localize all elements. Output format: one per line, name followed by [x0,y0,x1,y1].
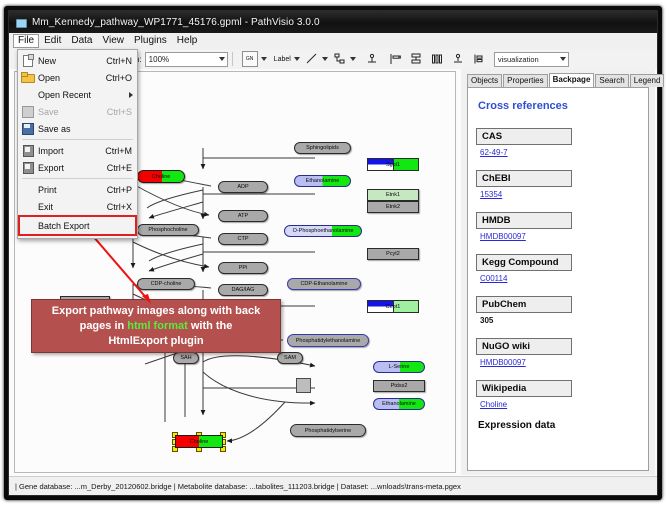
xref-header: Wikipedia [476,380,572,397]
window-frame: Mm_Kennedy_pathway_WP1771_45176.gpml - P… [4,6,662,500]
node-label: Phosphatidylserine [305,428,351,434]
menu-edit[interactable]: Edit [39,34,66,48]
new-document-icon [21,54,34,67]
menu-item-save-as[interactable]: Save as [18,120,137,137]
menu-item-exit[interactable]: Exit Ctrl+X [18,198,137,215]
xref-header: Kegg Compound [476,254,572,271]
annotation-line2-a: pages in [80,320,128,332]
node-cept1[interactable]: Cept1 [367,300,419,313]
xref-pubchem: PubChem 305 [476,294,640,325]
node-atp[interactable]: ATP [218,210,268,222]
node-label: Ethanolamine [306,178,340,184]
node-label: Etnk1 [386,192,400,198]
menu-item-label: Open [38,73,106,83]
visualization-value: visualization [498,55,539,64]
menu-item-accel: Ctrl+P [107,185,134,195]
chevron-down-icon [560,57,566,61]
zoom-value: 100% [149,55,169,64]
node-label: Pcyt2 [386,251,400,257]
anchor-box [296,378,311,393]
line-icon[interactable] [305,52,319,66]
window-inner: Mm_Kennedy_pathway_WP1771_45176.gpml - P… [8,10,658,496]
xref-header: HMDB [476,212,572,229]
chevron-down-icon[interactable] [261,57,267,61]
save-icon [21,105,34,118]
toolbar-separator [232,52,233,66]
backpage-panel: Cross references CAS 62-49-7 ChEBI 15354… [467,87,649,471]
menu-separator [22,178,133,179]
xref-value-link[interactable]: C00114 [480,274,640,283]
menu-item-accel: Ctrl+S [107,107,134,117]
label-button[interactable]: Label [274,56,291,63]
node-o-phosphoethanolamine[interactable]: O-Phosphoethanolamine [284,225,362,237]
annotation-line2-b: with the [188,320,233,332]
node-label: CDP-Ethanolamine [300,281,347,287]
status-bar: | Gene database: ...m_Derby_20120602.bri… [9,476,657,495]
tab-objects[interactable]: Objects [467,74,502,87]
menu-item-print[interactable]: Print Ctrl+P [18,181,137,198]
node-label: Ethanolamine [382,401,416,407]
distribute-icon[interactable] [430,52,444,66]
node-ethanolamine-2[interactable]: Ethanolamine [373,398,425,410]
menu-item-accel: Ctrl+X [107,202,134,212]
menu-bar: File Edit Data View Plugins Help [9,33,657,50]
side-panel-tabs: Objects Properties Backpage Search Legen… [467,73,653,87]
node-choline-top[interactable]: Choline [137,170,185,183]
node-label: Phosphocholine [148,227,187,233]
node-label: Ptdss2 [391,383,408,389]
export-icon [21,161,34,174]
cross-references-title: Cross references [478,100,640,112]
annotation-callout: Export pathway images along with back pa… [31,299,281,353]
align-left-icon[interactable] [388,52,402,66]
no-icon [21,88,34,101]
zoom-select[interactable]: 100% [145,52,228,67]
xref-wikipedia: Wikipedia Choline [476,378,640,409]
node-ethanolamine-1[interactable]: Ethanolamine [294,175,351,187]
side-panel: Objects Properties Backpage Search Legen… [461,69,655,475]
xref-value-link[interactable]: HMDB00097 [480,358,640,367]
node-label: SAM [284,355,296,361]
xref-value-link[interactable]: HMDB00097 [480,232,640,241]
menu-item-accel: Ctrl+M [105,146,134,156]
node-phosphatidylserine[interactable]: Phosphatidylserine [290,424,366,437]
xref-header: PubChem [476,296,572,313]
no-icon [21,219,34,232]
node-cdp-choline[interactable]: CDP-choline [137,278,195,290]
menu-separator [22,139,133,140]
xref-nugo-wiki: NuGO wiki HMDB00097 [476,336,640,367]
title-bar: Mm_Kennedy_pathway_WP1771_45176.gpml - P… [9,11,657,33]
tab-legend[interactable]: Legend [630,74,665,87]
node-phosphocholine[interactable]: Phosphocholine [137,224,199,236]
save-as-icon [21,122,34,135]
menu-item-accel: Ctrl+O [106,73,134,83]
node-sam[interactable]: SAM [277,352,303,364]
node-ctp[interactable]: CTP [218,233,268,245]
annotation-line3: HtmlExport plugin [108,335,203,347]
xref-header: NuGO wiki [476,338,572,355]
group-icon[interactable] [451,52,465,66]
node-l-serine[interactable]: L-Serine [373,361,425,373]
expression-data-title: Expression data [478,420,640,431]
chevron-down-icon[interactable] [322,57,328,61]
node-label: SAH [180,355,191,361]
chevron-right-icon [129,92,133,98]
node-label: O-Phosphoethanolamine [293,228,354,234]
no-icon [21,200,34,213]
open-folder-icon [21,71,34,84]
node-label: Choline [152,174,171,180]
menu-item-label: Print [38,185,107,195]
anchor-icon[interactable] [365,52,379,66]
visualization-select[interactable]: visualization [494,52,569,67]
menu-item-save: Save Ctrl+S [18,103,137,120]
node-label: ADP [237,184,248,190]
no-icon [21,183,34,196]
menu-data[interactable]: Data [66,34,97,48]
menu-item-accel: Ctrl+E [107,163,134,173]
node-adp[interactable]: ADP [218,181,268,193]
menu-item-batch-export[interactable]: Batch Export [18,215,137,236]
node-sphingolipids[interactable]: Sphingolipids [294,142,351,154]
node-label: Phosphatidylethanolamine [296,338,361,344]
chevron-down-icon[interactable] [350,57,356,61]
xref-value-link[interactable]: 62-49-7 [480,148,640,157]
menu-file[interactable]: File [13,34,39,48]
tab-search[interactable]: Search [595,74,628,87]
menu-item-label: Open Recent [38,90,134,100]
menu-item-label: New [38,56,106,66]
node-label: CDP-choline [151,281,182,287]
xref-kegg-compound: Kegg Compound C00114 [476,252,640,283]
node-label: L-Serine [389,364,410,370]
xref-header: CAS [476,128,572,145]
annotation-line2-highlight: html format [127,320,188,332]
menu-item-export[interactable]: Export Ctrl+E [18,159,137,176]
node-phosphatidylethanolamine[interactable]: Phosphatidylethanolamine [287,334,369,347]
node-label: Cept1 [386,304,401,310]
node-ptdss2[interactable]: Ptdss2 [373,380,425,392]
menu-item-import[interactable]: Import Ctrl+M [18,142,137,159]
xref-value: 305 [480,316,640,325]
annotation-line1: Export pathway images along with back [52,305,260,317]
menu-item-label: Save [38,107,107,117]
chevron-down-icon [219,57,225,61]
tab-properties[interactable]: Properties [503,74,547,87]
menu-view[interactable]: View [97,34,129,48]
menu-item-open[interactable]: Open Ctrl+O [18,69,137,86]
menu-item-open-recent[interactable]: Open Recent [18,86,137,103]
node-label: PPi [239,265,248,271]
annotation-text: Export pathway images along with back pa… [46,304,266,349]
node-label: CTP [238,236,249,242]
node-label: Sgpl1 [386,162,400,168]
menu-item-accel: Ctrl+N [106,56,134,66]
xref-cas: CAS 62-49-7 [476,126,640,157]
import-icon [21,144,34,157]
node-choline-selected[interactable]: Choline [175,435,223,448]
menu-help[interactable]: Help [172,34,203,48]
node-label: Etnk2 [386,204,400,210]
tab-backpage[interactable]: Backpage [549,73,595,87]
file-menu-dropdown: New Ctrl+N Open Ctrl+O Open Recent Save … [17,49,138,239]
menu-item-label: Batch Export [38,221,134,231]
menu-item-label: Export [38,163,107,173]
node-sgpl1[interactable]: Sgpl1 [367,158,419,171]
node-label: DAG/IAG [232,287,255,293]
xref-chebi: ChEBI 15354 [476,168,640,199]
menu-plugins[interactable]: Plugins [129,34,172,48]
align-stack-icon[interactable] [409,52,423,66]
xref-header: ChEBI [476,170,572,187]
node-label: ATP [238,213,248,219]
node-etnk2[interactable]: Etnk2 [367,201,419,213]
interaction-icon[interactable] [333,52,347,66]
node-label: Sphingolipids [306,145,339,151]
menu-item-label: Exit [38,202,107,212]
order-icon[interactable] [472,52,486,66]
node-cdp-ethanolamine[interactable]: CDP-Ethanolamine [287,278,361,290]
node-sah[interactable]: SAH [173,352,199,364]
pathvisio-app-icon [15,16,27,28]
node-etnk1[interactable]: Etnk1 [367,189,419,201]
menu-item-label: Import [38,146,105,156]
node-label: Choline [190,439,209,445]
node-pcyt2[interactable]: Pcyt2 [367,248,419,260]
xref-value-link[interactable]: Choline [480,400,640,409]
node-ppi[interactable]: PPi [218,262,268,274]
node-dag-iag[interactable]: DAG/IAG [218,284,268,296]
menu-item-label: Save as [38,124,132,134]
chevron-down-icon[interactable] [294,57,300,61]
datanode-icon[interactable]: GN [242,51,258,67]
window-title: Mm_Kennedy_pathway_WP1771_45176.gpml - P… [32,17,320,28]
menu-item-new[interactable]: New Ctrl+N [18,52,137,69]
screenshot-root: Mm_Kennedy_pathway_WP1771_45176.gpml - P… [0,0,670,509]
status-text: | Gene database: ...m_Derby_20120602.bri… [9,482,461,491]
xref-value-link[interactable]: 15354 [480,190,640,199]
xref-hmdb: HMDB HMDB00097 [476,210,640,241]
